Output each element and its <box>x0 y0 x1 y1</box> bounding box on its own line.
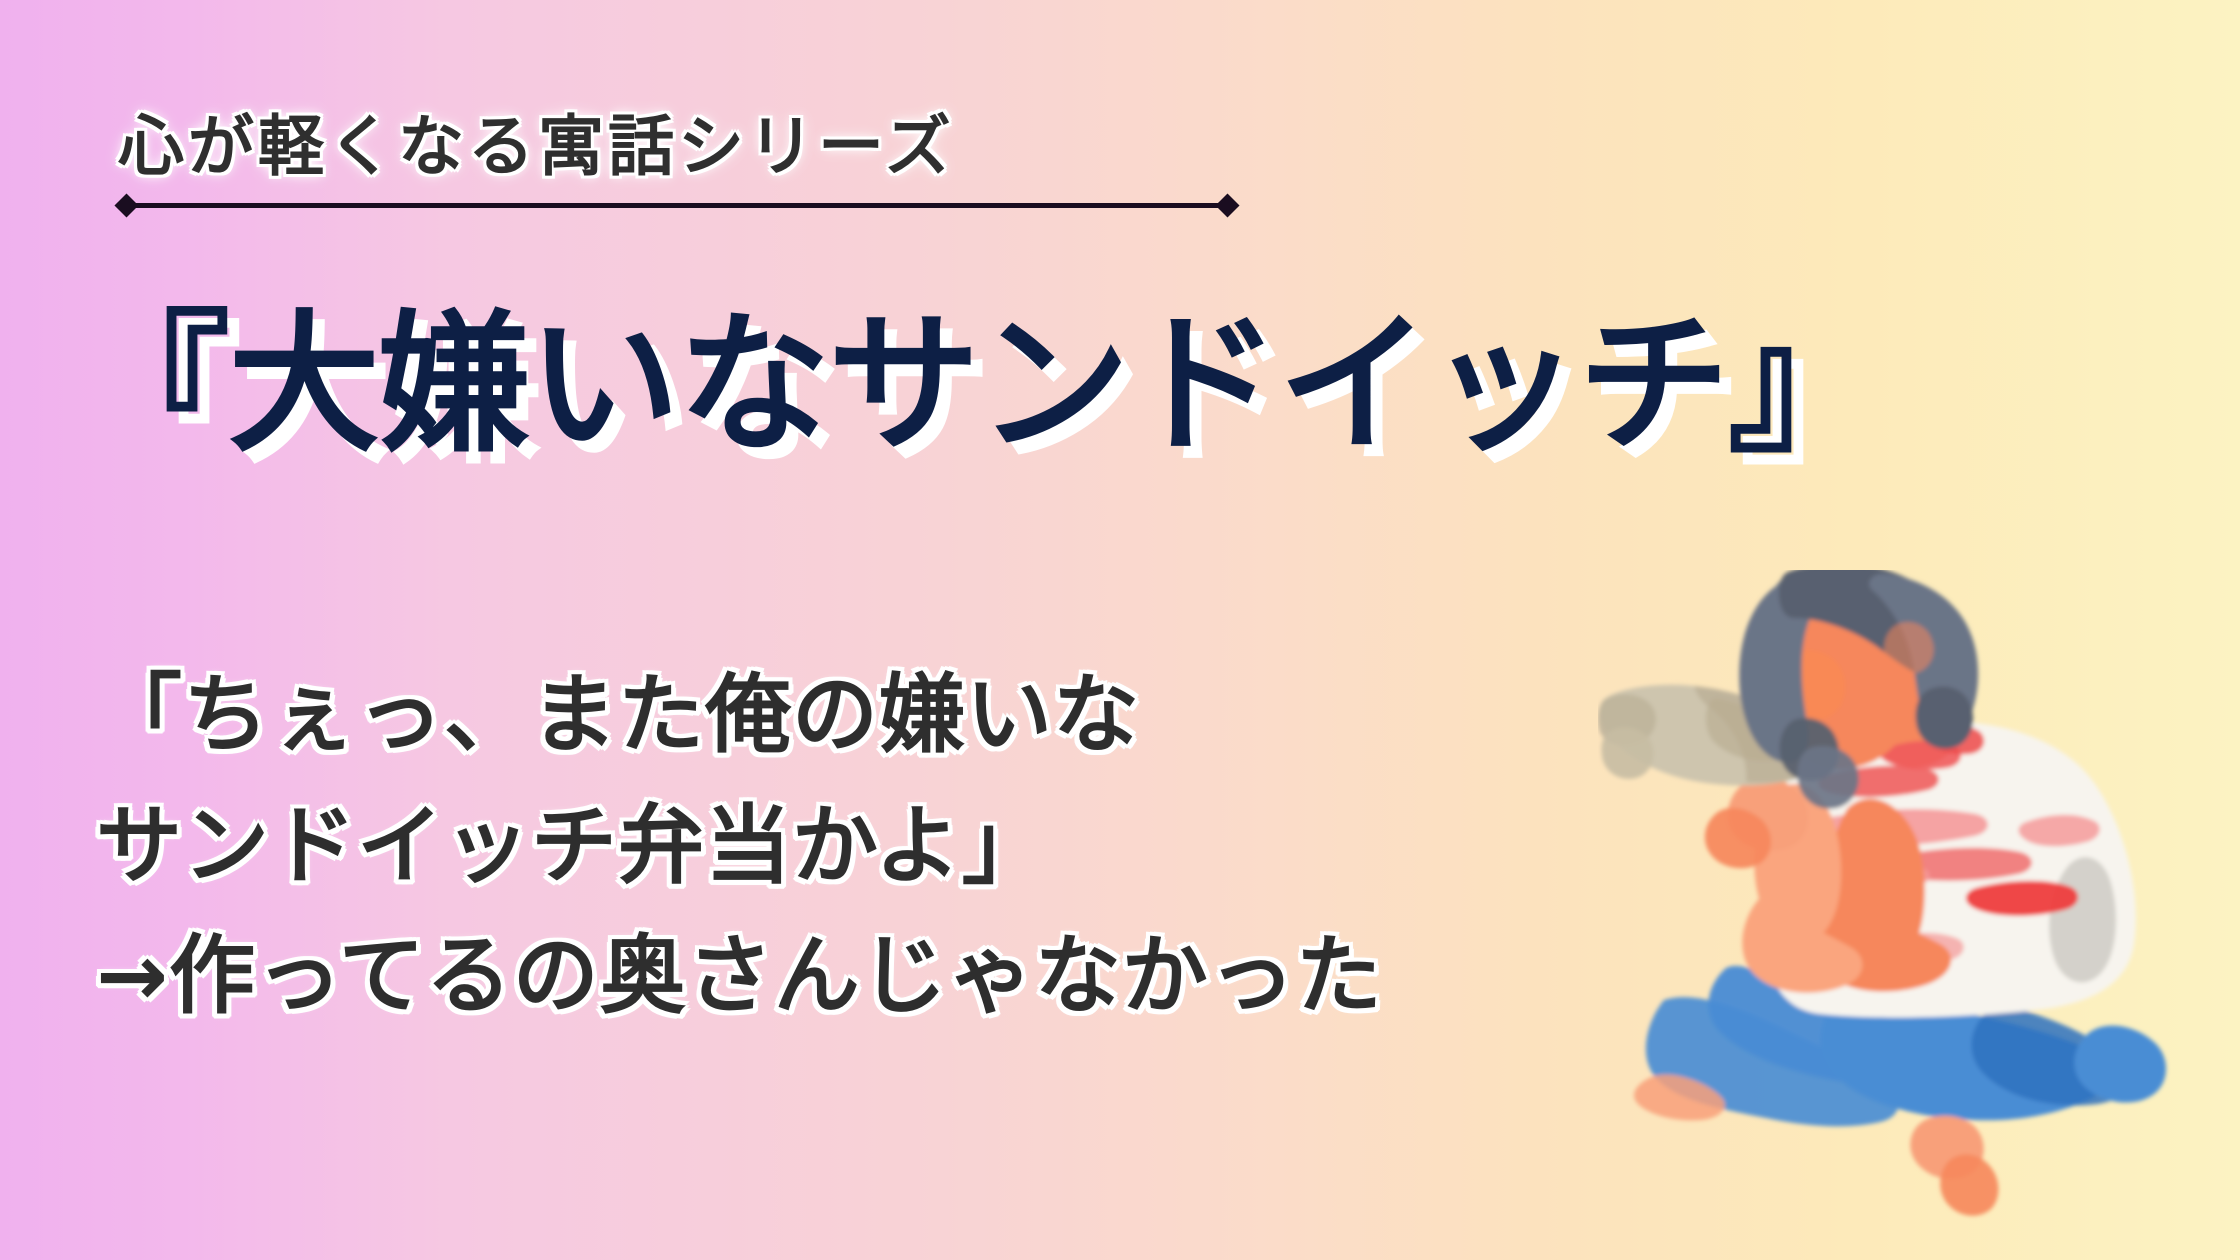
poster-canvas: 心が軽くなる寓話シリーズ 『大嫌いなサンドイッチ』 「ちぇっ、また俺の嫌いな サ… <box>0 0 2240 1260</box>
body-copy: 「ちぇっ、また俺の嫌いな サンドイッチ弁当かよ」 →作ってるの奥さんじゃなかった <box>96 650 1656 1042</box>
eyebrow-block: 心が軽くなる寓話シリーズ <box>118 112 1378 214</box>
eyebrow-label: 心が軽くなる寓話シリーズ <box>118 112 1378 182</box>
page-title: 『大嫌いなサンドイッチ』 <box>78 300 1878 470</box>
body-line-2: サンドイッチ弁当かよ」 <box>96 781 1656 912</box>
diamond-marker-right-icon <box>1215 193 1239 217</box>
eyebrow-divider <box>118 196 1236 214</box>
body-line-3: →作ってるの奥さんじゃなかった <box>96 911 1656 1042</box>
watercolor-person-reading-book-illustration <box>1598 570 2218 1260</box>
divider-line <box>134 203 1220 208</box>
illustration-shapes <box>1598 570 2166 1216</box>
body-line-1: 「ちぇっ、また俺の嫌いな <box>96 650 1656 781</box>
